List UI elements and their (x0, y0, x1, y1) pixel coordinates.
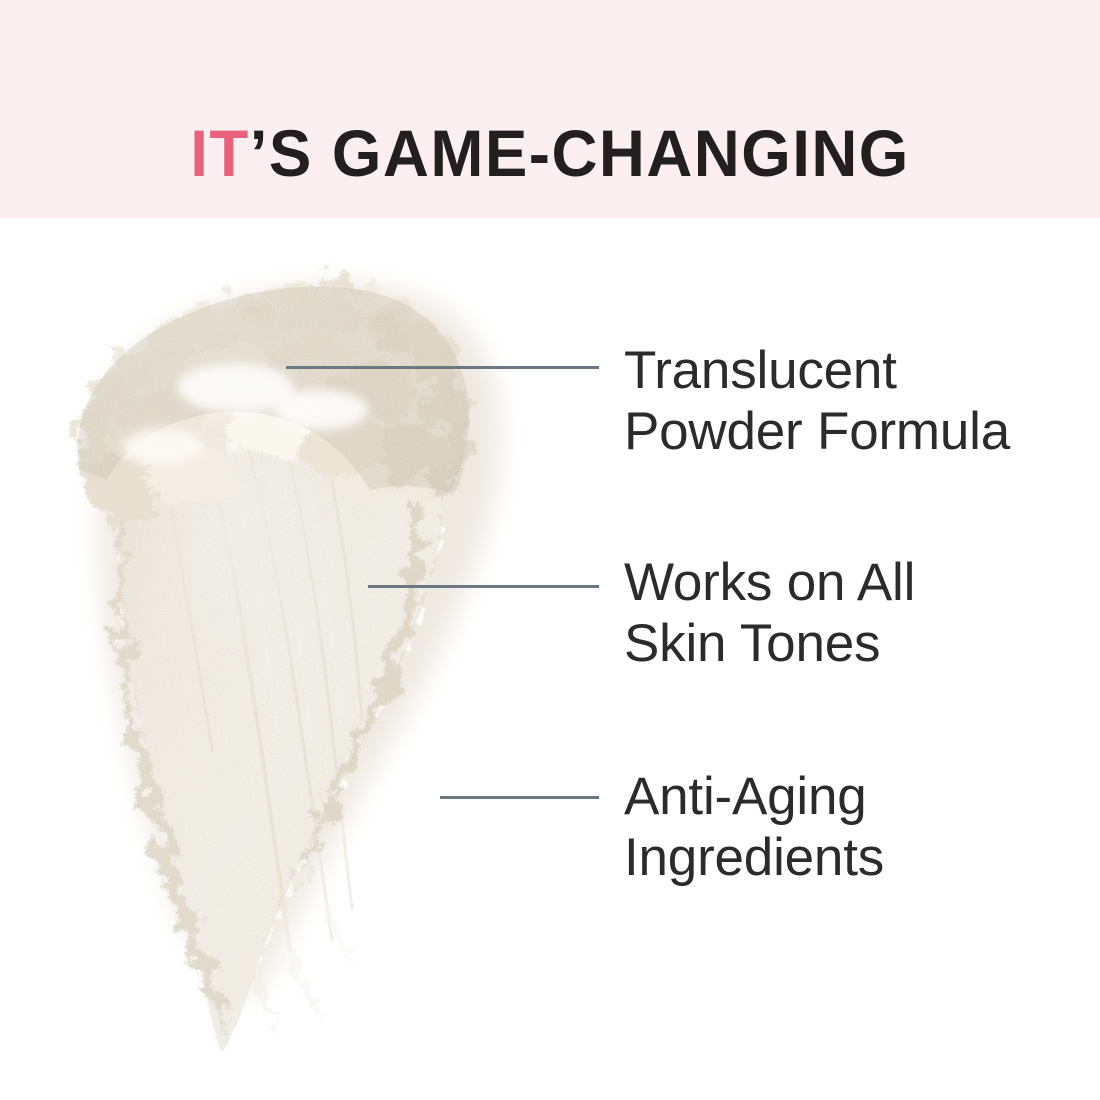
callout-label-3: Anti-Aging Ingredients (624, 766, 884, 889)
page-title-rest: ’S GAME-CHANGING (250, 120, 910, 186)
callout-label-2: Works on All Skin Tones (624, 552, 915, 675)
product-infographic: IT’S GAME-CHANGING (0, 0, 1100, 1100)
powder-swatch-illustration (40, 240, 640, 1070)
product-swatch-image (40, 240, 640, 1070)
callout-label-1: Translucent Powder Formula (624, 340, 1010, 463)
header-banner: IT’S GAME-CHANGING (0, 0, 1100, 218)
page-title: IT’S GAME-CHANGING (19, 44, 1081, 262)
page-title-accent: IT (190, 120, 249, 186)
